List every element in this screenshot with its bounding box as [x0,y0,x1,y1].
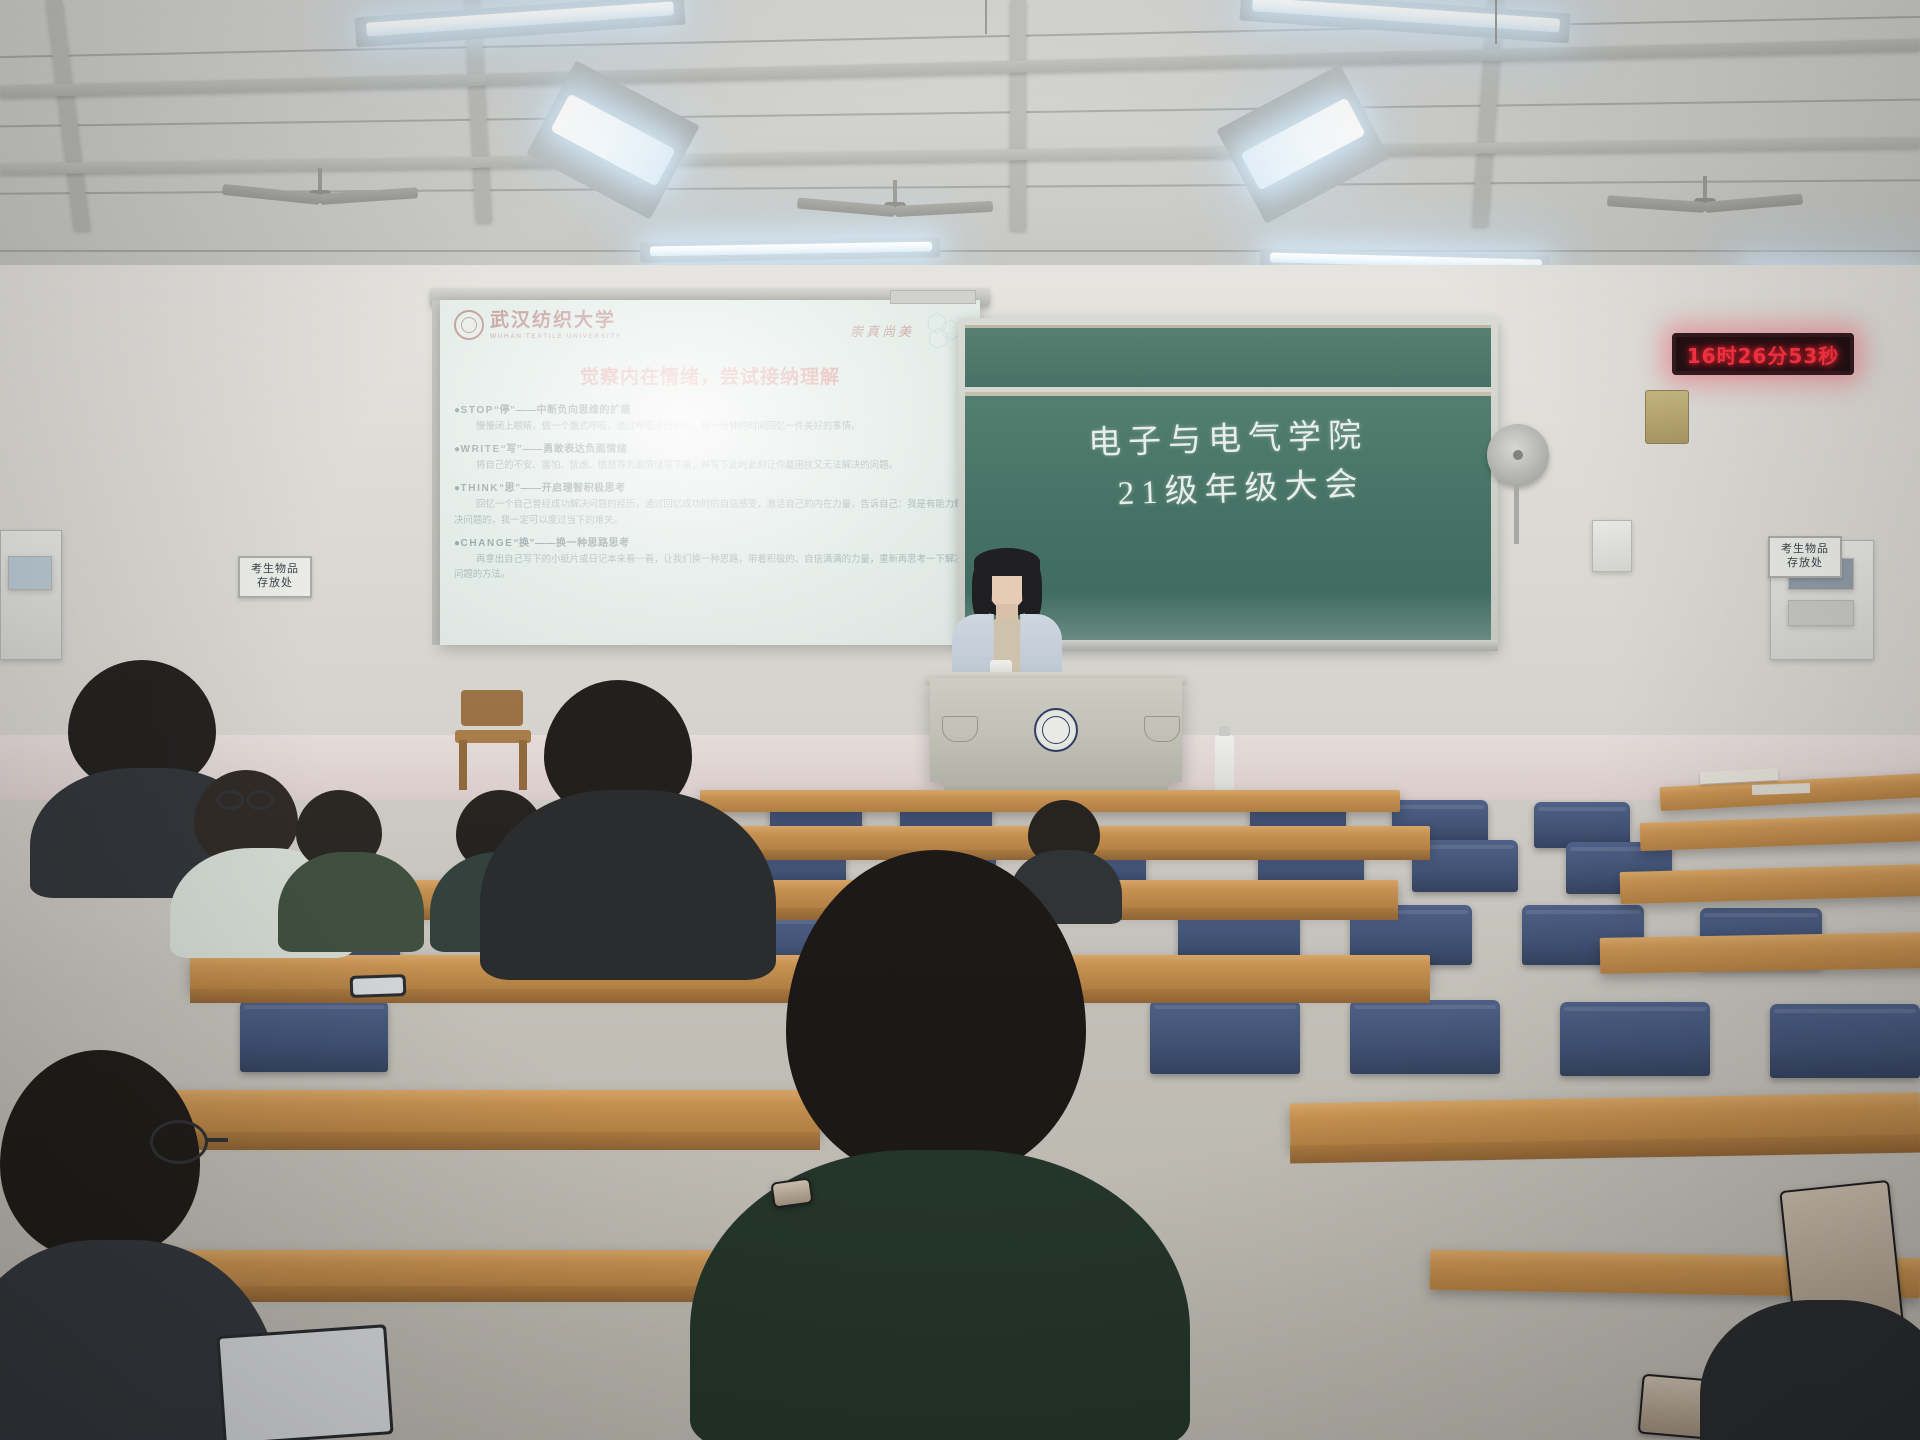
bullet-body: 再拿出自己写下的小纸片或日记本来看一看，让我们换一种思路，带着积极的、自信满满的… [454,551,966,581]
wall-sign-line1: 考生物品 [1774,543,1836,557]
fan-blade [1607,195,1706,213]
wall-fan-bracket [1514,484,1519,544]
wall-sign-line2: 存放处 [244,577,306,591]
slide-bullet-stop: ●STOP“停”——中断负向思维的扩展 慢慢闭上眼睛，做一个腹式呼吸，通过呼吸进… [454,401,966,433]
fan-blade [320,187,419,205]
wall-sign-line2: 存放处 [1774,557,1836,571]
presenter-hair-side [1022,562,1042,620]
eyeglasses-icon [216,790,244,810]
wall-sign-right: 考生物品 存放处 [1768,536,1842,578]
bullet-head-tail: 开启理智积极思考 [542,483,626,494]
bullet-body: 回忆一个自己曾经成功解决问题的经历，通过回忆成功时的自信感受，激活自己的内在力量… [454,496,966,526]
university-emblem-icon [1034,708,1078,752]
water-bottle [1215,735,1234,797]
auditorium-chair [1560,1002,1710,1076]
bullet-head-en: STOP [461,405,494,416]
student-foreground-center [700,850,1180,1440]
wall-speaker-box [1645,390,1689,444]
slide-title: 觉察内在情绪，尝试接纳理解 [454,362,966,389]
university-logo: 武汉纺织大学 WUHAN TEXTILE UNIVERSITY [454,310,622,340]
ceiling-beam [1010,0,1026,230]
screen-control-plate [890,290,976,304]
tablet-device[interactable] [216,1324,393,1440]
tablet-screen[interactable] [220,1327,391,1440]
bullet-heading: ●CHANGE“换”——换一种思路思考 [454,534,966,549]
cabinet-panel [1788,600,1854,626]
ceiling-fan [790,180,1000,226]
projector-screen: 武汉纺织大学 WUHAN TEXTILE UNIVERSITY 崇真尚美 [440,300,980,645]
led-clock-sign: 16时26分53秒 [1672,333,1854,375]
student-shoulders [1700,1300,1920,1440]
blackboard-upper-panel [965,325,1491,387]
bullet-head-en: WRITE [461,444,501,455]
tablet-device[interactable] [350,974,407,998]
papers-on-desk [1752,783,1810,795]
bullet-dash: —— [522,444,543,455]
student-shoulders [278,852,424,952]
bullet-head-cn: “换” [513,538,535,549]
ceiling-grid-line [0,250,1920,252]
bullet-head-en: THINK [461,483,500,494]
ceiling-cable [1495,0,1497,44]
bullet-body: 慢慢闭上眼睛，做一个腹式呼吸，通过呼吸进行放松，用一分钟的时间回忆一件美好的事情… [454,418,966,433]
student-back-left-3 [278,790,418,930]
bullet-dash: —— [516,405,537,416]
student-shoulders [690,1150,1190,1440]
university-name-en: WUHAN TEXTILE UNIVERSITY [490,333,622,340]
slide-bullet-write: ●WRITE“写”——勇敢表达负面情绪 将自己的不安、害怕、忧虑、愤怒等负面情绪… [454,440,966,472]
bullet-heading: ●WRITE“写”——勇敢表达负面情绪 [454,440,966,455]
classroom-scene: 武汉纺织大学 WUHAN TEXTILE UNIVERSITY 崇真尚美 [0,0,1920,1440]
desk-row-4-right [1600,932,1920,974]
fan-blade [797,197,896,216]
fan-blade [895,201,993,217]
slide-header: 武汉纺织大学 WUHAN TEXTILE UNIVERSITY 崇真尚美 [454,310,966,350]
bullet-head-cn: “思” [499,483,521,494]
auditorium-chair [1350,1000,1500,1074]
bullet-dash: —— [521,483,542,494]
bullet-head-tail: 勇敢表达负面情绪 [543,444,627,455]
student-foreground-right [1700,1300,1920,1440]
presentation-slide: 武汉纺织大学 WUHAN TEXTILE UNIVERSITY 崇真尚美 [440,300,980,645]
wall-switch-plate [1592,520,1632,572]
wall-sign-left: 考生物品 存放处 [238,556,312,598]
presenter-hair-side [972,562,992,620]
eyeglasses-icon [246,790,274,810]
chair-leg [459,740,467,790]
slide-bullet-change: ●CHANGE“换”——换一种思路思考 再拿出自己写下的小纸片或日记本来看一看，… [454,534,966,581]
eyeglasses-bridge-icon [206,1138,228,1142]
bullet-head-cn: “停” [494,405,516,416]
wall-mounted-fan [1487,424,1549,486]
tablet-screen[interactable] [353,977,404,995]
led-clock-text: 16时26分53秒 [1687,340,1840,369]
university-seal-icon [454,310,484,340]
ceiling-fan [215,168,425,214]
phone-device[interactable] [770,1177,813,1208]
wall-cabinet-left [0,530,62,660]
bullet-head-cn: “写” [501,444,523,455]
bullet-heading: ●STOP“停”——中断负向思维的扩展 [454,401,966,416]
bullet-head-en: CHANGE [461,538,514,549]
fan-blade [1705,193,1804,212]
student-head [786,850,1086,1180]
ceiling-cable [985,0,987,34]
auditorium-chair [1770,1004,1920,1078]
eyeglasses-icon [150,1120,208,1164]
phone-screen[interactable] [773,1180,812,1207]
cabinet-panel-left [8,556,52,590]
wall-sign-line1: 考生物品 [244,563,306,577]
ceiling-fan [1600,176,1810,222]
podium-side-decoration [1144,716,1180,742]
bullet-heading: ●THINK“思”——开启理智积极思考 [454,479,966,494]
podium-side-decoration [942,716,978,742]
university-name-cn: 武汉纺织大学 [490,311,622,330]
bullet-head-tail: 中断负向思维的扩展 [537,405,632,416]
bullet-body: 将自己的不安、害怕、忧虑、愤怒等负面情绪写下来，并写下此时此刻让你最困扰又无法解… [454,457,966,472]
bullet-head-tail: 换一种思路思考 [556,538,630,549]
university-motto: 崇真尚美 [850,321,914,340]
slide-bullet-think: ●THINK“思”——开启理智积极思考 回忆一个自己曾经成功解决问题的经历，通过… [454,479,966,526]
fan-blade [222,184,321,205]
bullet-dash: —— [535,538,556,549]
